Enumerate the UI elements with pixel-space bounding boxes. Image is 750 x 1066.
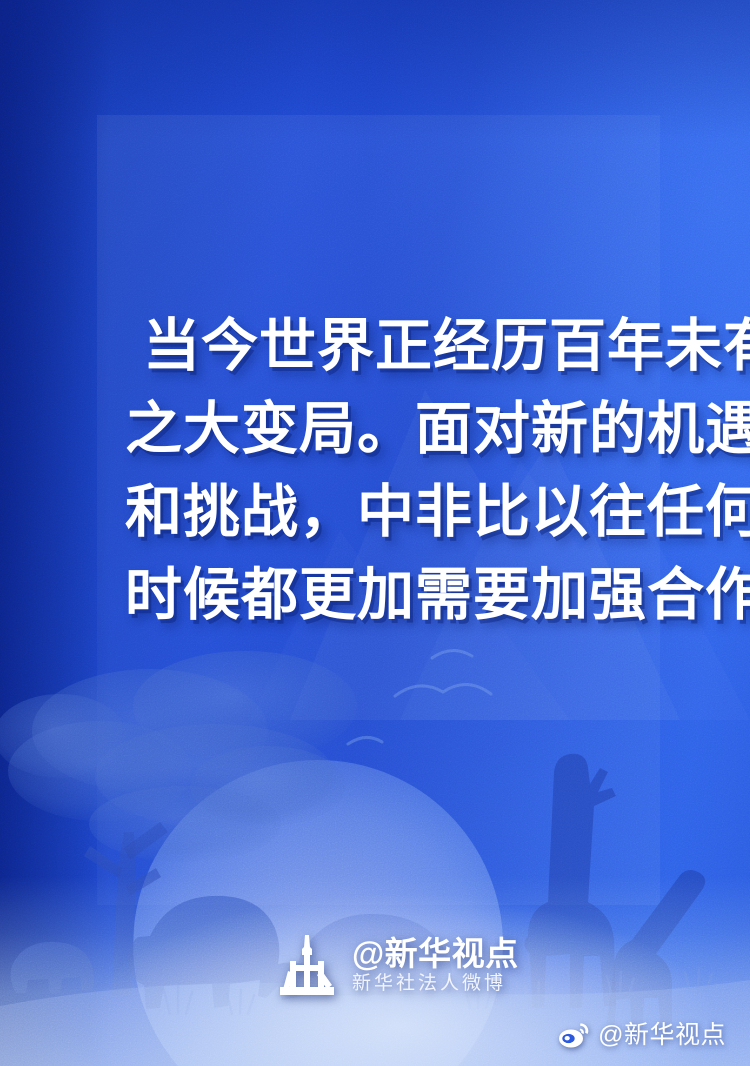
xinhua-watermark-subtitle: 新华社法人微博 xyxy=(352,974,519,994)
quote-poster: 当今世界正经历百年未有 之大变局。面对新的机遇 和挑战，中非比以往任何 时候都更… xyxy=(0,0,750,1066)
xinhua-watermark-texts: @新华视点 新华社法人微博 xyxy=(352,937,519,994)
xinhua-logo-mark-icon xyxy=(274,931,342,999)
xinhua-watermark: @新华视点 新华社法人微博 xyxy=(274,931,519,999)
weibo-eye-icon xyxy=(558,1022,589,1048)
quote-block: 当今世界正经历百年未有 之大变局。面对新的机遇 和挑战，中非比以往任何 时候都更… xyxy=(125,305,685,637)
quote-line-2: 之大变局。面对新的机遇 xyxy=(125,388,685,471)
quote-line-4: 时候都更加需要加强合作。 xyxy=(125,554,685,637)
weibo-credit: @新华视点 xyxy=(558,1022,726,1048)
quote-line-3: 和挑战，中非比以往任何 xyxy=(125,471,685,554)
acacia-tree-canopy xyxy=(0,651,357,862)
bird-flock xyxy=(348,650,491,744)
quote-line-1: 当今世界正经历百年未有 xyxy=(125,305,685,388)
weibo-credit-label: @新华视点 xyxy=(598,1022,726,1048)
xinhua-watermark-title: @新华视点 xyxy=(352,937,519,971)
